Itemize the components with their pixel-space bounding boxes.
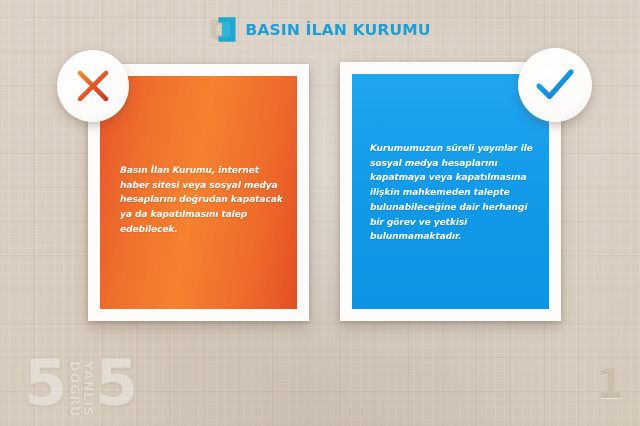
x-cross-icon (57, 50, 129, 122)
wrong-card-text: Basın İlan Kurumu, internet haber sitesi… (120, 164, 283, 238)
basin-ilan-kurumu-mark-icon (209, 16, 237, 43)
correct-card-panel: Kurumumuzun süreli yayınlar ile sosyal m… (352, 74, 549, 309)
wrong-card-panel: Basın İlan Kurumu, internet haber sitesi… (100, 76, 297, 309)
check-mark-icon (518, 48, 592, 122)
correct-card-text: Kurumumuzun süreli yayınlar ile sosyal m… (370, 142, 535, 245)
brand-name: BASIN İLAN KURUMU (245, 21, 430, 39)
brand-header: BASIN İLAN KURUMU (0, 16, 640, 43)
